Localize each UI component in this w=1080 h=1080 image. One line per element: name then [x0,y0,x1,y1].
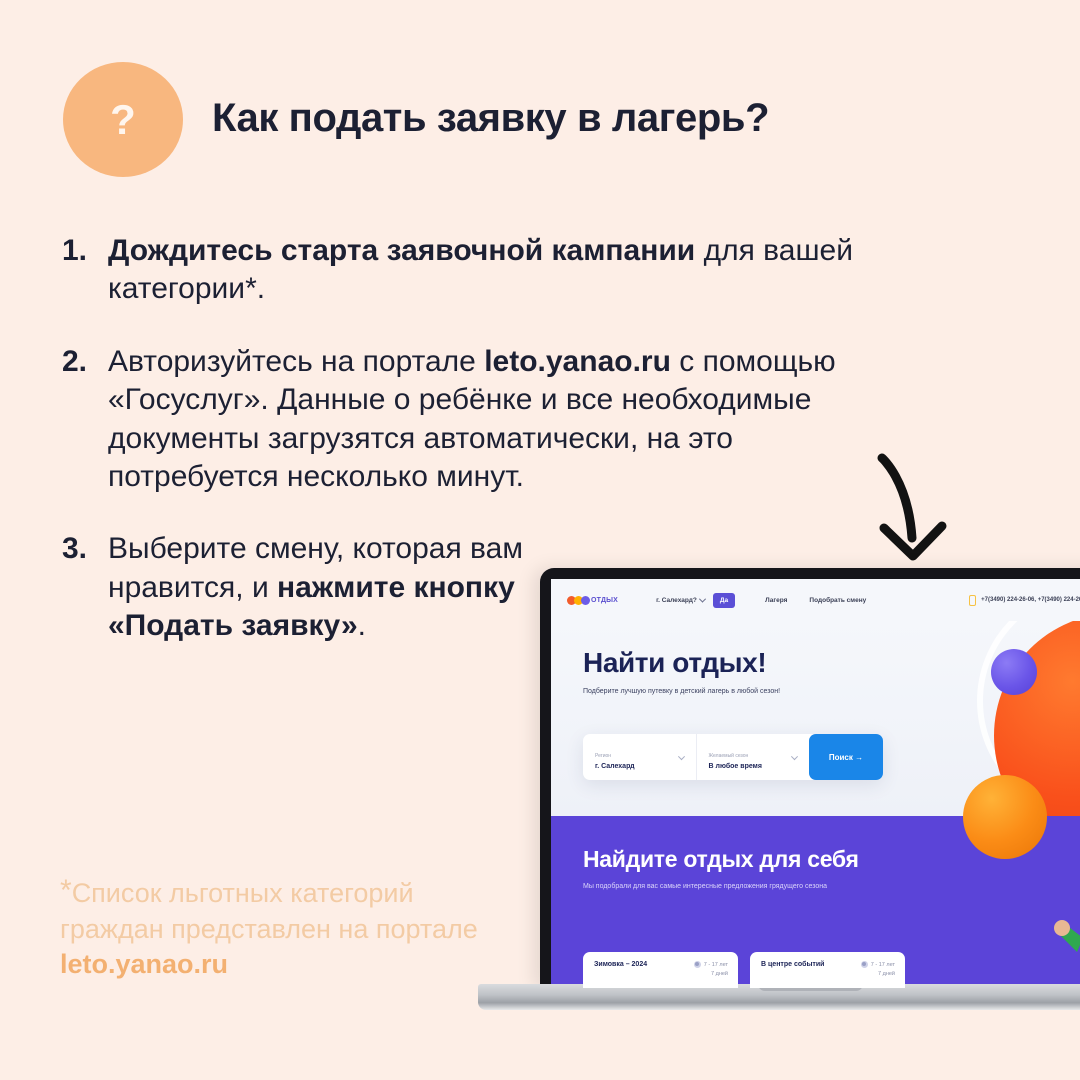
laptop-mockup: ОТДЫХ г. Салехард? Да Лагеря Подобрать с… [540,568,1080,1018]
search-form: Регион г. Салехард Желаемый сезон В любо… [583,734,883,780]
hero-subtitle: Подберите лучшую путевку в детский лагер… [583,688,1080,695]
city-selector[interactable]: г. Салехард? [656,597,705,604]
nav-link-pick-shift[interactable]: Подобрать смену [809,597,866,604]
phone-numbers: +7(3490) 224-26-06, +7(3490) 224-26-38 [981,597,1080,603]
city-label: г. Салехард? [656,597,697,604]
promo-subtitle: Мы подобрали для вас самые интересные пр… [583,883,1080,890]
footnote-text: Список льготных категорий граждан предст… [60,878,478,944]
site-logo[interactable]: ОТДЫХ [567,596,618,605]
laptop-lid: ОТДЫХ г. Салехард? Да Лагеря Подобрать с… [540,568,1080,988]
chevron-down-icon [677,753,684,760]
question-mark-icon: ? [63,62,183,177]
region-select[interactable]: Регион г. Салехард [583,734,696,780]
offer-age: 7 - 17 лет [871,962,895,968]
offer-days: 7 дней [861,971,895,977]
season-value: В любое время [709,763,800,770]
footnote-site-link[interactable]: leto.yanao.ru [60,947,490,983]
laptop-screen: ОТДЫХ г. Салехард? Да Лагеря Подобрать с… [551,579,1080,988]
season-select[interactable]: Желаемый сезон В любое время [696,734,810,780]
site-nav-links: Лагеря Подобрать смену [765,597,866,604]
offer-meta: 7 - 17 лет 7 дней [861,961,895,988]
footnote-asterisk: * [60,874,72,907]
region-value: г. Салехард [595,763,686,770]
hero-title: Найти отдых! [583,647,1080,679]
list-item[interactable]: В центре событий 7 - 17 лет 7 дней [750,952,905,988]
phone-block[interactable]: +7(3490) 224-26-06, +7(3490) 224-26-38 [969,595,1080,606]
page-title: Как подать заявку в лагерь? [212,96,769,141]
step-number: 2. [62,343,108,497]
phone-icon [969,595,976,606]
offer-age: 7 - 17 лет [704,962,728,968]
decorative-orange-ball [963,775,1047,859]
step-text: Выберите смену, которая вам нравится, и … [108,530,548,645]
step-bold: Дождитесь старта заявочной кампании [108,234,695,267]
offer-days: 7 дней [694,971,728,977]
list-item[interactable]: Зимовка – 2024 7 - 17 лет 7 дней [583,952,738,988]
step-text: Дождитесь старта заявочной кампании для … [108,232,892,309]
region-label: Регион [595,753,686,759]
people-icon [694,961,701,968]
confirm-city-button[interactable]: Да [713,593,735,608]
site-navbar: ОТДЫХ г. Салехард? Да Лагеря Подобрать с… [551,579,1080,621]
step-bold: leto.yanao.ru [484,345,671,378]
chevron-down-icon [699,595,706,602]
step-rest: . [358,609,366,642]
poster-root: ? Как подать заявку в лагерь? 1. Дождите… [0,0,1080,1080]
list-item: 2. Авторизуйтесь на портале leto.yanao.r… [62,343,892,497]
question-mark-glyph: ? [110,99,136,141]
offer-title: В центре событий [761,961,824,988]
child-photo [1045,838,1080,988]
logo-word: ОТДЫХ [591,597,618,604]
offer-title: Зимовка – 2024 [594,961,647,988]
logo-dots-icon [567,596,588,605]
step-lead: Авторизуйтесь на портале [108,345,484,378]
people-icon [861,961,868,968]
season-label: Желаемый сезон [709,753,800,759]
offer-card-list: Зимовка – 2024 7 - 17 лет 7 дней В центр… [583,952,905,988]
footnote: *Список льготных категорий граждан предс… [60,876,490,983]
poster-header: ? Как подать заявку в лагерь? [0,0,1080,200]
offer-meta: 7 - 17 лет 7 дней [694,961,728,988]
curved-down-arrow-icon [862,446,972,566]
step-text: Авторизуйтесь на портале leto.yanao.ru с… [108,343,892,497]
search-button[interactable]: Поиск → [809,734,883,780]
list-item: 1. Дождитесь старта заявочной кампании д… [62,232,892,309]
nav-link-camps[interactable]: Лагеря [765,597,787,604]
step-number: 3. [62,530,108,645]
step-number: 1. [62,232,108,309]
